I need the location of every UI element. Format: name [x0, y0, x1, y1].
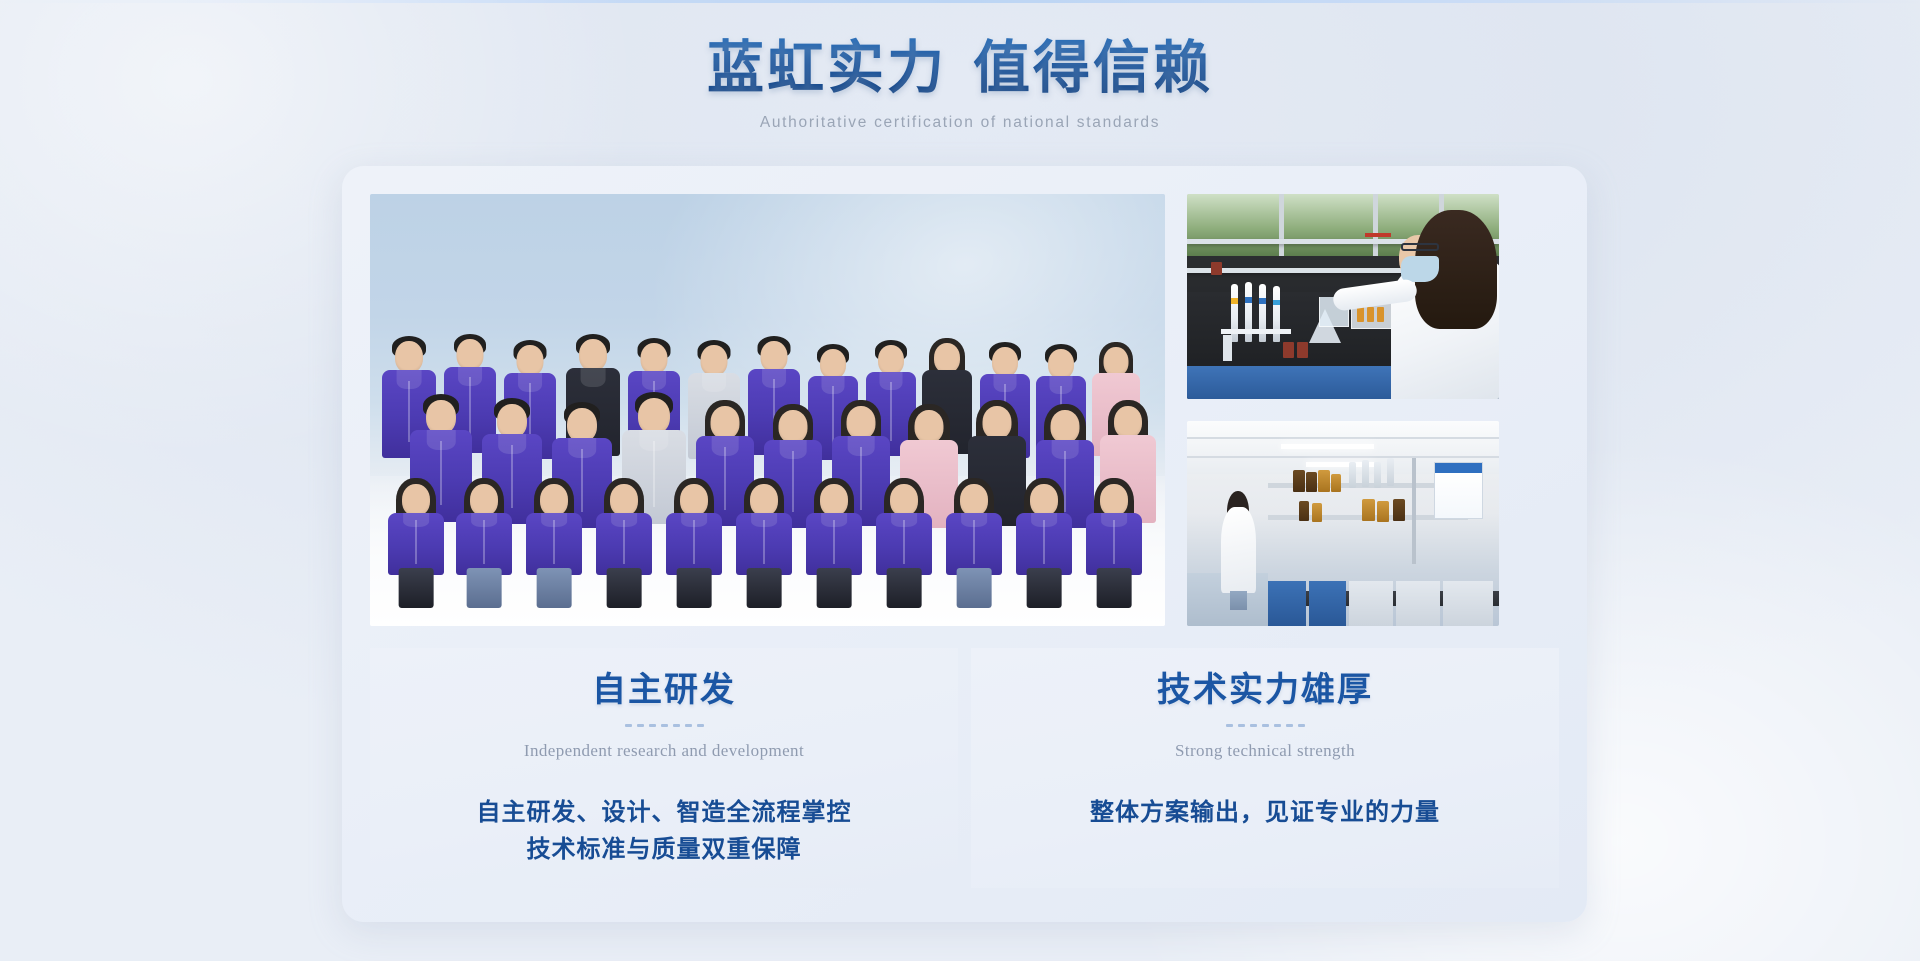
feature-title: 自主研发 [390, 670, 938, 713]
top-accent-line [0, 0, 1920, 3]
feature-title: 技术实力雄厚 [991, 670, 1539, 713]
page-title-part2: 值得信赖 [973, 37, 1213, 100]
section-header: 蓝虹实力值得信赖 Authoritative certification of … [0, 34, 1920, 132]
feature-body-line1: 自主研发、设计、智造全流程掌控 [390, 795, 938, 832]
lab-photo-pipetting[interactable] [1187, 194, 1499, 399]
feature-body-line1: 整体方案输出，见证专业的力量 [991, 795, 1539, 832]
lab-photo-fume-hood[interactable] [1187, 421, 1499, 626]
page-title: 蓝虹实力值得信赖 [0, 34, 1920, 105]
content-panel: 自主研发 Independent research and developmen… [342, 166, 1587, 922]
page-title-part1: 蓝虹实力 [707, 37, 947, 100]
feature-body-line2: 技术标准与质量双重保障 [390, 832, 938, 869]
safety-notice-poster [1434, 462, 1484, 519]
feature-body: 整体方案输出，见证专业的力量 [991, 795, 1539, 832]
lab-photo-column [1187, 194, 1499, 626]
company-group-photo[interactable] [370, 194, 1165, 626]
feature-card-independent-rd[interactable]: 自主研发 Independent research and developmen… [370, 648, 958, 888]
dotted-divider-icon [991, 724, 1539, 727]
feature-card-technical-strength[interactable]: 技术实力雄厚 Strong technical strength 整体方案输出，… [971, 648, 1559, 888]
lab-technician-figure [1385, 194, 1499, 399]
feature-cards: 自主研发 Independent research and developmen… [370, 648, 1559, 888]
group-photo-people [370, 244, 1165, 574]
feature-english-subtitle: Independent research and development [390, 741, 938, 761]
feature-body: 自主研发、设计、智造全流程掌控 技术标准与质量双重保障 [390, 795, 938, 869]
feature-english-subtitle: Strong technical strength [991, 741, 1539, 761]
media-gallery [370, 194, 1559, 626]
dotted-divider-icon [390, 724, 938, 727]
lab-researcher-figure [1221, 491, 1255, 610]
page-subtitle: Authoritative certification of national … [0, 114, 1920, 132]
